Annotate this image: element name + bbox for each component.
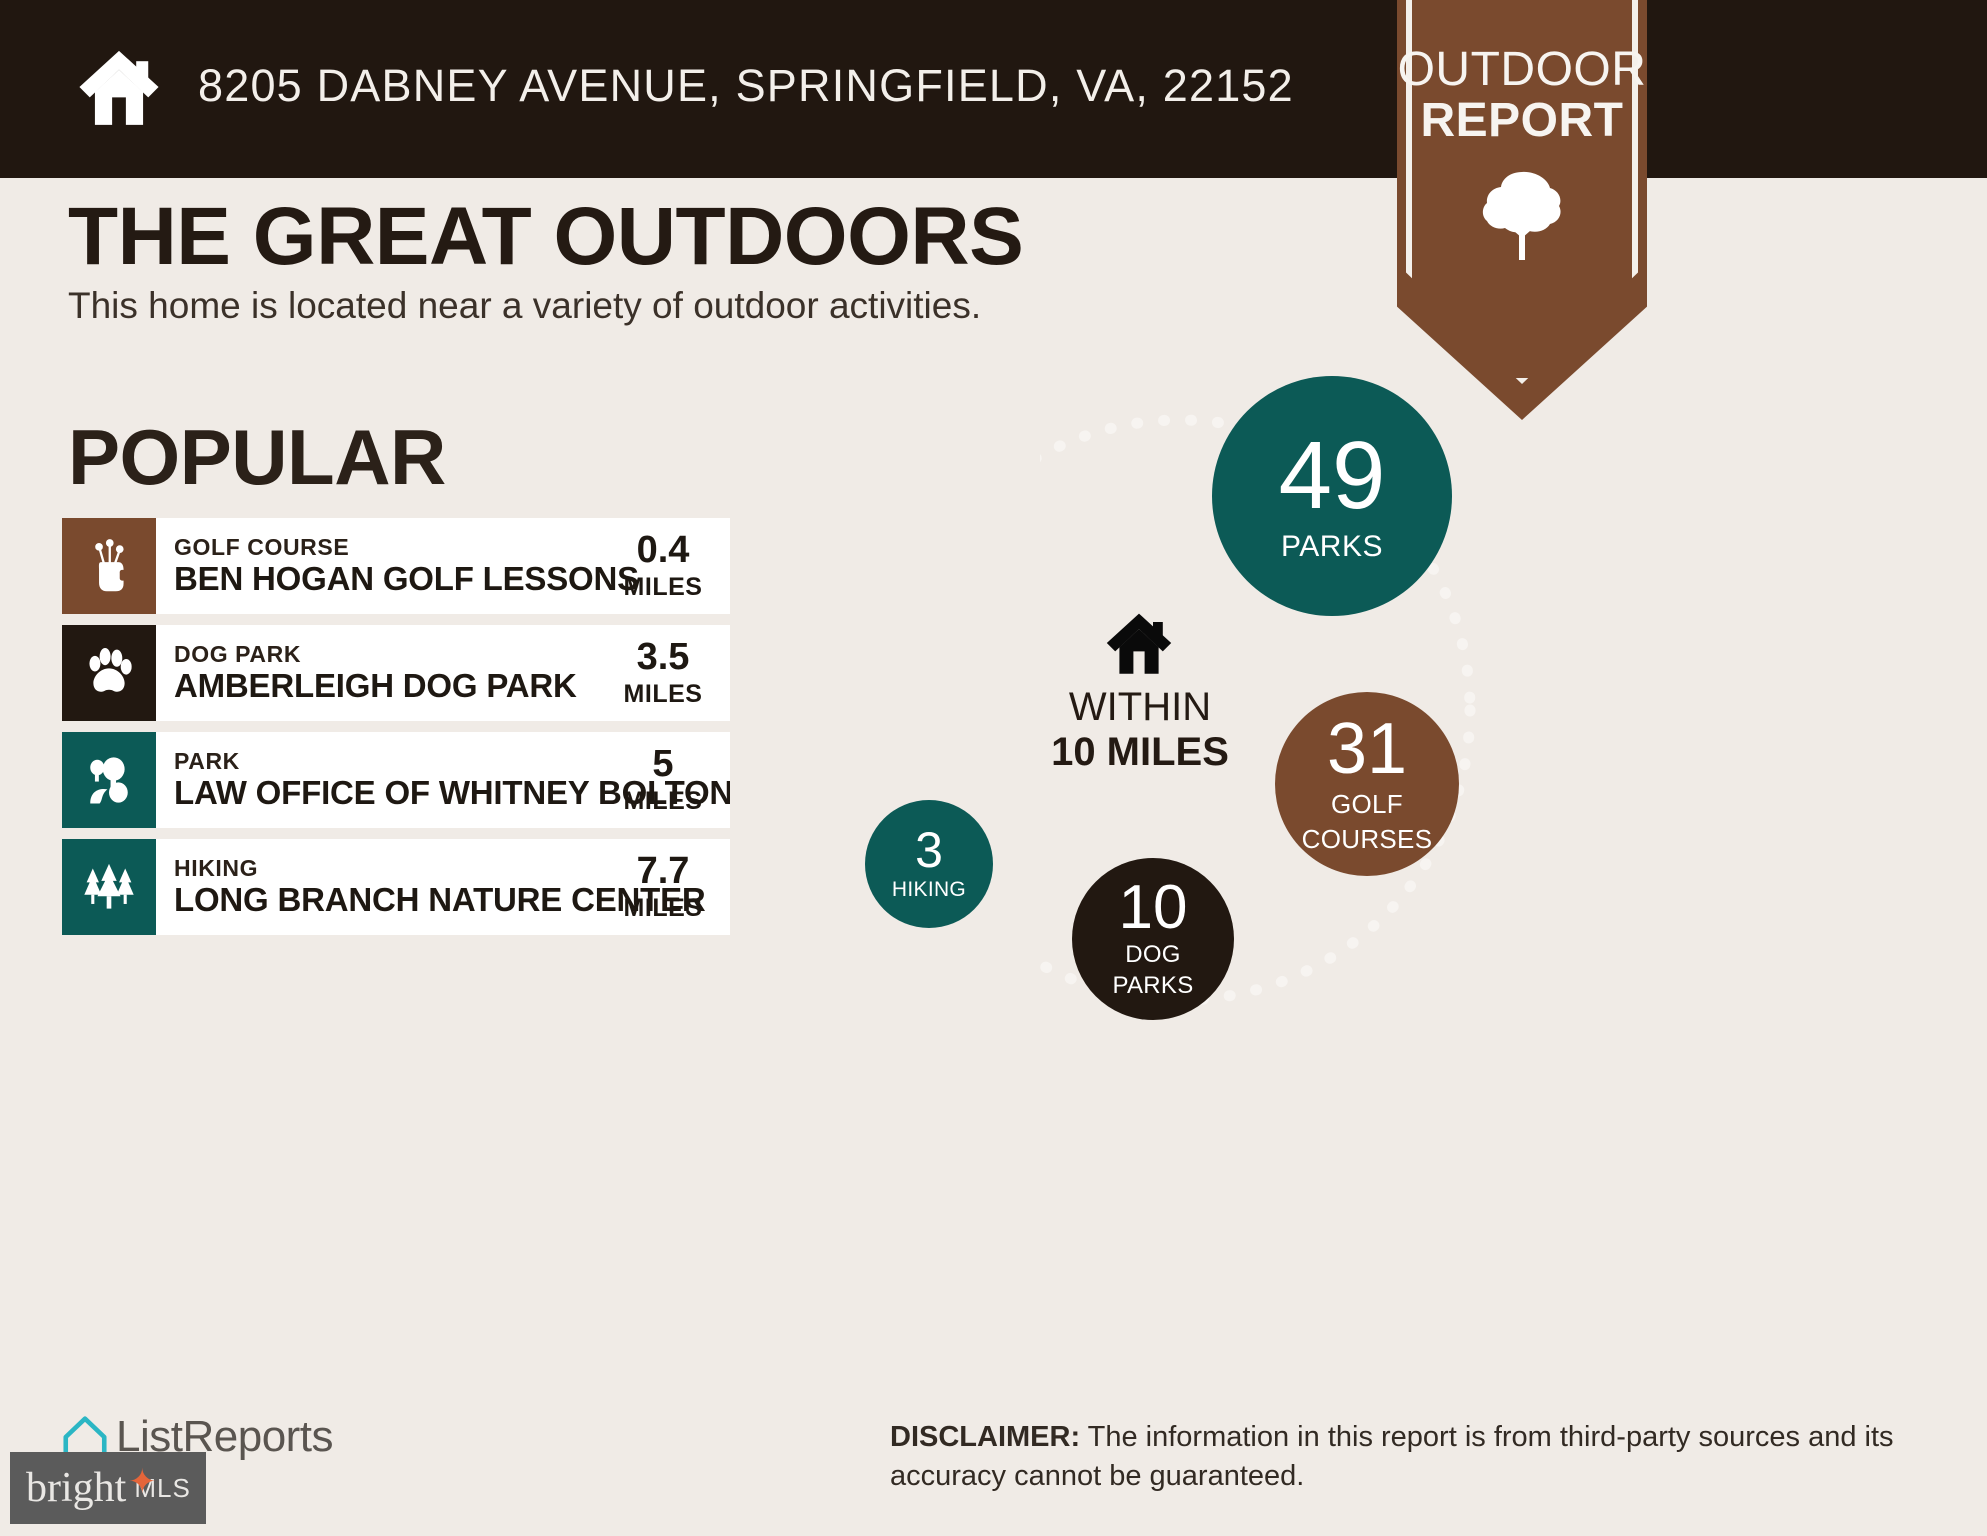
list-item-body: GOLF COURSE BEN HOGAN GOLF LESSONS bbox=[156, 518, 610, 614]
center-label-line1: WITHIN bbox=[1005, 685, 1275, 730]
golf-bag-icon bbox=[62, 518, 156, 614]
distance-value: 3.5 bbox=[637, 638, 690, 676]
list-item-text: HIKING LONG BRANCH NATURE CENTER bbox=[174, 855, 610, 918]
list-item[interactable]: DOG PARK AMBERLEIGH DOG PARK 3.5 MILES bbox=[62, 625, 730, 721]
distance-unit: MILES bbox=[624, 573, 703, 602]
list-item-category: DOG PARK bbox=[174, 641, 577, 667]
page-header: 8205 DABNEY AVENUE, SPRINGFIELD, VA, 221… bbox=[0, 0, 1987, 178]
house-icon bbox=[1103, 608, 1175, 678]
list-item-name: LONG BRANCH NATURE CENTER bbox=[174, 882, 610, 919]
outdoor-stats-diagram: WITHIN 10 MILES 49 PARKS 31 GOLF COURSES… bbox=[1040, 360, 1987, 1080]
stat-label-line1: GOLF bbox=[1331, 791, 1403, 818]
paw-print-icon bbox=[62, 625, 156, 721]
list-item-name: LAW OFFICE OF WHITNEY BOLTON bbox=[174, 775, 610, 812]
list-item-body: HIKING LONG BRANCH NATURE CENTER bbox=[156, 839, 610, 935]
list-item-text: GOLF COURSE BEN HOGAN GOLF LESSONS bbox=[174, 534, 610, 597]
badge-title-line1: OUTDOOR bbox=[1397, 44, 1647, 95]
bright-mls-watermark: bright ✦ MLS bbox=[10, 1452, 206, 1524]
center-label: WITHIN 10 MILES bbox=[1005, 685, 1275, 775]
list-item-category: HIKING bbox=[174, 855, 610, 881]
stat-label-line2: PARKS bbox=[1112, 974, 1193, 999]
list-item-name: AMBERLEIGH DOG PARK bbox=[174, 668, 577, 705]
list-item-name: BEN HOGAN GOLF LESSONS bbox=[174, 561, 610, 598]
stat-bubble-hiking[interactable]: 3 HIKING bbox=[865, 800, 993, 928]
list-item-category: PARK bbox=[174, 748, 610, 774]
list-item[interactable]: GOLF COURSE BEN HOGAN GOLF LESSONS 0.4 M… bbox=[62, 518, 730, 614]
stat-value: 49 bbox=[1279, 430, 1386, 521]
park-trees-icon bbox=[62, 732, 156, 828]
distance-unit: MILES bbox=[624, 787, 703, 816]
stat-label: HIKING bbox=[892, 879, 966, 901]
disclaimer: DISCLAIMER: The information in this repo… bbox=[890, 1418, 1950, 1495]
page-subtitle: This home is located near a variety of o… bbox=[68, 285, 981, 327]
page-title: THE GREAT OUTDOORS bbox=[68, 190, 1023, 284]
property-address: 8205 DABNEY AVENUE, SPRINGFIELD, VA, 221… bbox=[198, 60, 1294, 112]
stat-label-line1: DOG bbox=[1125, 943, 1181, 968]
distance-value: 5 bbox=[652, 745, 673, 783]
house-icon bbox=[76, 44, 162, 130]
section-title-popular: POPULAR bbox=[68, 412, 446, 503]
stat-bubble-dog-parks[interactable]: 10 DOG PARKS bbox=[1072, 858, 1234, 1020]
list-item-distance: 0.4 MILES bbox=[610, 518, 730, 614]
distance-value: 7.7 bbox=[637, 852, 690, 890]
list-item-distance: 3.5 MILES bbox=[610, 625, 730, 721]
stat-label: PARKS bbox=[1281, 531, 1383, 562]
list-item-body: DOG PARK AMBERLEIGH DOG PARK bbox=[156, 625, 610, 721]
bright-brand-text: bright bbox=[26, 1464, 126, 1512]
stat-bubble-parks[interactable]: 49 PARKS bbox=[1212, 376, 1452, 616]
distance-unit: MILES bbox=[624, 894, 703, 923]
list-item-text: DOG PARK AMBERLEIGH DOG PARK bbox=[174, 641, 577, 704]
center-label-line2: 10 MILES bbox=[1005, 730, 1275, 775]
list-item[interactable]: HIKING LONG BRANCH NATURE CENTER 7.7 MIL… bbox=[62, 839, 730, 935]
stat-value: 31 bbox=[1327, 715, 1407, 783]
list-item-distance: 7.7 MILES bbox=[610, 839, 730, 935]
stat-value: 3 bbox=[915, 827, 943, 875]
list-item-body: PARK LAW OFFICE OF WHITNEY BOLTON bbox=[156, 732, 610, 828]
badge-title-line2: REPORT bbox=[1397, 95, 1647, 146]
tree-icon bbox=[1480, 168, 1564, 264]
disclaimer-label: DISCLAIMER: bbox=[890, 1421, 1080, 1453]
distance-unit: MILES bbox=[624, 680, 703, 709]
stat-bubble-golf-courses[interactable]: 31 GOLF COURSES bbox=[1275, 692, 1459, 876]
popular-list: GOLF COURSE BEN HOGAN GOLF LESSONS 0.4 M… bbox=[62, 518, 730, 946]
pine-trees-icon bbox=[62, 839, 156, 935]
distance-value: 0.4 bbox=[637, 531, 690, 569]
list-item-distance: 5 MILES bbox=[610, 732, 730, 828]
stat-label-line2: COURSES bbox=[1302, 826, 1433, 853]
stat-value: 10 bbox=[1119, 879, 1188, 938]
list-item-text: PARK LAW OFFICE OF WHITNEY BOLTON bbox=[174, 748, 610, 811]
list-item[interactable]: PARK LAW OFFICE OF WHITNEY BOLTON 5 MILE… bbox=[62, 732, 730, 828]
list-item-category: GOLF COURSE bbox=[174, 534, 610, 560]
